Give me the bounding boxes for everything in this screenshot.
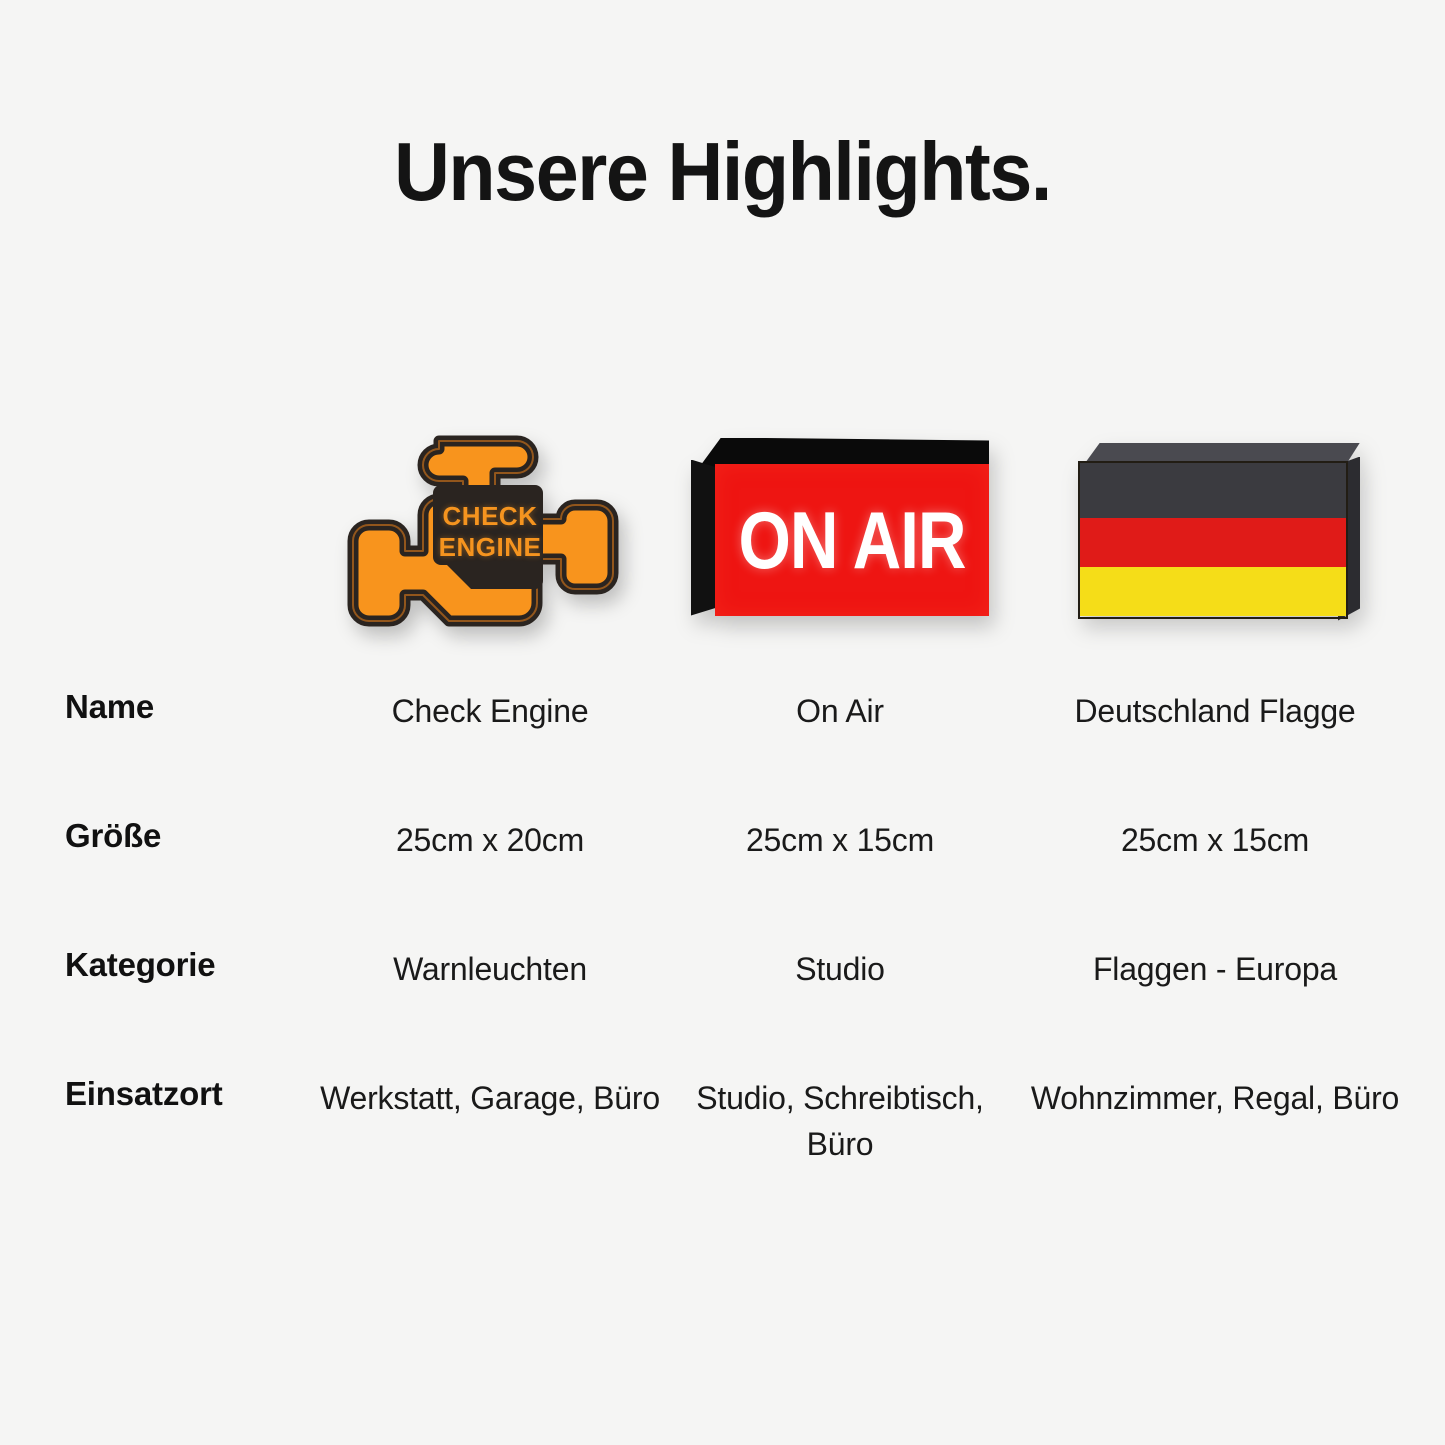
highlights-page: Unsere Highlights. CHECK ENGINE bbox=[0, 0, 1445, 1445]
page-title: Unsere Highlights. bbox=[51, 126, 1395, 217]
flag-band-black bbox=[1080, 463, 1346, 518]
cell-groesse-on-air: 25cm x 15cm bbox=[669, 817, 1011, 863]
flag-face-panel bbox=[1078, 461, 1348, 619]
table-row: Einsatzort Werkstatt, Garage, Büro Studi… bbox=[0, 1075, 1445, 1225]
cell-kategorie-on-air: Studio bbox=[669, 946, 1011, 992]
cell-name-on-air: On Air bbox=[669, 688, 1011, 734]
cell-kategorie-deutschland-flagge: Flaggen - Europa bbox=[1011, 946, 1419, 992]
cell-name-check-engine: Check Engine bbox=[311, 688, 669, 734]
product-image-deutschland-flagge[interactable] bbox=[1011, 405, 1419, 670]
flag-band-gold bbox=[1080, 567, 1346, 616]
on-air-text: ON AIR bbox=[712, 447, 991, 632]
cell-groesse-check-engine: 25cm x 20cm bbox=[311, 817, 669, 863]
row-label-einsatzort: Einsatzort bbox=[65, 1075, 315, 1113]
product-image-on-air[interactable]: ON AIR bbox=[669, 405, 1011, 670]
row-label-groesse: Größe bbox=[65, 817, 315, 855]
product-image-row: CHECK ENGINE ON AIR bbox=[0, 405, 1445, 670]
cell-kategorie-check-engine: Warnleuchten bbox=[311, 946, 669, 992]
table-row: Name Check Engine On Air Deutschland Fla… bbox=[0, 688, 1445, 817]
flag-band-red bbox=[1080, 518, 1346, 567]
table-row: Größe 25cm x 20cm 25cm x 15cm 25cm x 15c… bbox=[0, 817, 1445, 946]
cell-name-deutschland-flagge: Deutschland Flagge bbox=[1011, 688, 1419, 734]
table-row: Kategorie Warnleuchten Studio Flaggen - … bbox=[0, 946, 1445, 1075]
check-engine-lamp-icon: CHECK ENGINE bbox=[341, 425, 639, 650]
row-label-name: Name bbox=[65, 688, 315, 726]
row-label-kategorie: Kategorie bbox=[65, 946, 315, 984]
cell-einsatzort-deutschland-flagge: Wohnzimmer, Regal, Büro bbox=[1011, 1075, 1419, 1121]
german-flag-lightbox bbox=[1070, 443, 1360, 633]
cell-groesse-deutschland-flagge: 25cm x 15cm bbox=[1011, 817, 1419, 863]
spec-table: Name Check Engine On Air Deutschland Fla… bbox=[0, 688, 1445, 1225]
engine-block-shape bbox=[341, 425, 639, 650]
product-image-check-engine[interactable]: CHECK ENGINE bbox=[311, 405, 669, 670]
cell-einsatzort-check-engine: Werkstatt, Garage, Büro bbox=[311, 1075, 669, 1121]
cell-einsatzort-on-air: Studio, Schreibtisch, Büro bbox=[669, 1075, 1011, 1168]
on-air-lightbox: ON AIR bbox=[691, 438, 989, 638]
